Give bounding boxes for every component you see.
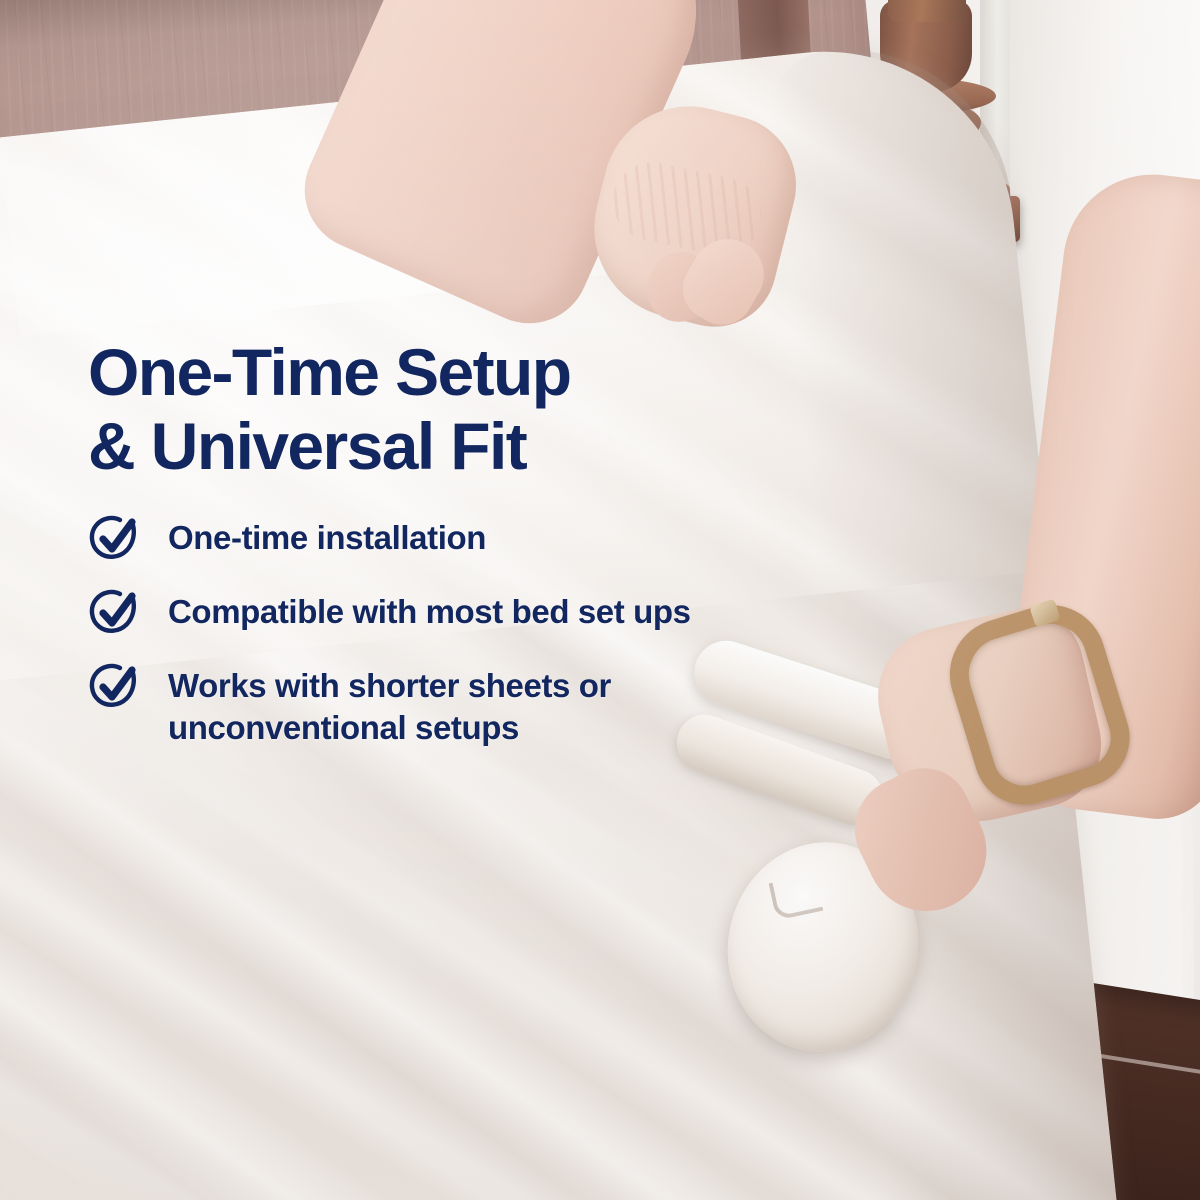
feature-bullet-label: Works with shorter sheets or unconventio… xyxy=(168,662,611,749)
headline: One-Time Setup & Universal Fit xyxy=(88,336,888,484)
check-circle-icon xyxy=(88,512,142,566)
bedpost-finial-top xyxy=(888,0,966,22)
feature-bullet-list: One-time installation Compatible with mo… xyxy=(88,514,888,749)
check-circle-icon xyxy=(88,660,142,714)
feature-bullet-label: Compatible with most bed set ups xyxy=(168,588,691,633)
text-overlay: One-Time Setup & Universal Fit One-time … xyxy=(88,336,888,749)
feature-bullet-2: Compatible with most bed set ups xyxy=(88,588,888,640)
feature-bullet-label: One-time installation xyxy=(168,514,486,559)
feature-bullet-1: One-time installation xyxy=(88,514,888,566)
check-circle-icon xyxy=(88,586,142,640)
product-feature-image: One-Time Setup & Universal Fit One-time … xyxy=(0,0,1200,1200)
feature-bullet-3: Works with shorter sheets or unconventio… xyxy=(88,662,888,749)
